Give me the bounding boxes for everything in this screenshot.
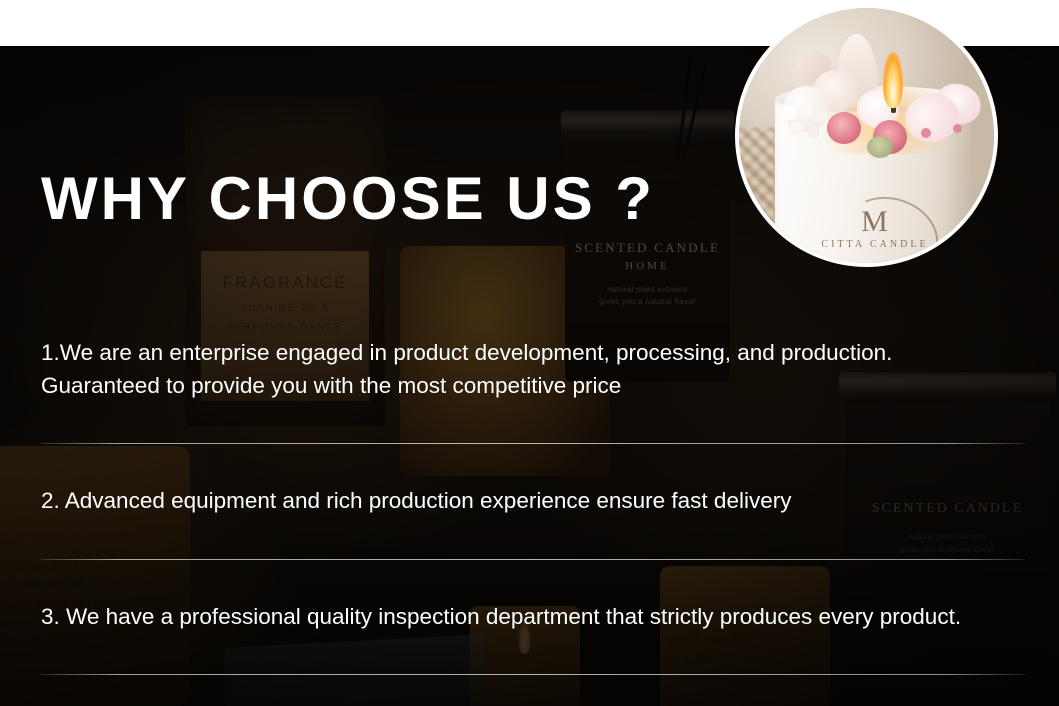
dried-green-bud <box>867 136 893 158</box>
why-choose-us-banner: FRAGRANCE TURNING TO A PERFUMED DANCE SC… <box>0 0 1059 706</box>
list-item: 3. We have a professional quality inspec… <box>0 568 1059 676</box>
product-photo-scene: M CITTA CANDLE <box>739 8 994 263</box>
benefits-list: 1.We are an enterprise engaged in produc… <box>0 304 1059 706</box>
list-item-text: 1.We are an enterprise engaged in produc… <box>41 340 892 398</box>
list-item: 1.We are an enterprise engaged in produc… <box>0 304 1059 444</box>
list-item: 4. We have a professional R&D and design… <box>0 683 1059 706</box>
list-item-text: 2. Advanced equipment and rich productio… <box>41 488 791 513</box>
flower-center-dot <box>953 124 962 133</box>
product-photo-circle: M CITTA CANDLE <box>735 4 998 267</box>
flame-icon <box>883 52 903 108</box>
brand-name: CITTA CANDLE <box>811 239 939 250</box>
list-item-divider <box>41 559 1025 560</box>
candle-brand-mark: M CITTA CANDLE <box>811 206 939 250</box>
dried-pink-rose <box>827 112 861 144</box>
list-item: 2. Advanced equipment and rich productio… <box>0 452 1059 560</box>
page-title: WHY CHOOSE US ? <box>41 169 655 229</box>
list-item-divider <box>41 674 1025 675</box>
list-item-text: 3. We have a professional quality inspec… <box>41 604 961 629</box>
list-item-divider <box>41 443 1025 444</box>
brand-monogram: M <box>811 206 939 238</box>
flower-center-dot <box>921 128 931 138</box>
